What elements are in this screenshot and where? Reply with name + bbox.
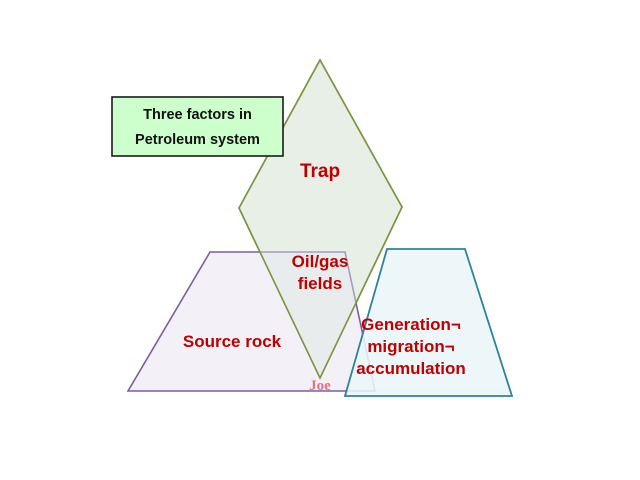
legend-box[interactable]: Three factors in Petroleum system [112,97,283,156]
generation-label-line-1: Generation¬ [361,315,461,334]
oil-gas-fields-line-1: Oil/gas [292,252,349,271]
diagram-canvas: Three factors in Petroleum system Trap O… [0,0,640,480]
generation-label-line-2: migration¬ [367,337,454,356]
legend-line-1: Three factors in [143,107,252,123]
trap-label: Trap [300,161,340,182]
oil-gas-fields-line-2: fields [298,274,342,293]
source-rock-label: Source rock [183,332,282,351]
legend-line-2: Petroleum system [135,132,260,148]
generation-label-group: Generation¬ migration¬ accumulation [356,315,466,378]
generation-label-line-3: accumulation [356,359,466,378]
joe-watermark: Joe [309,378,331,394]
